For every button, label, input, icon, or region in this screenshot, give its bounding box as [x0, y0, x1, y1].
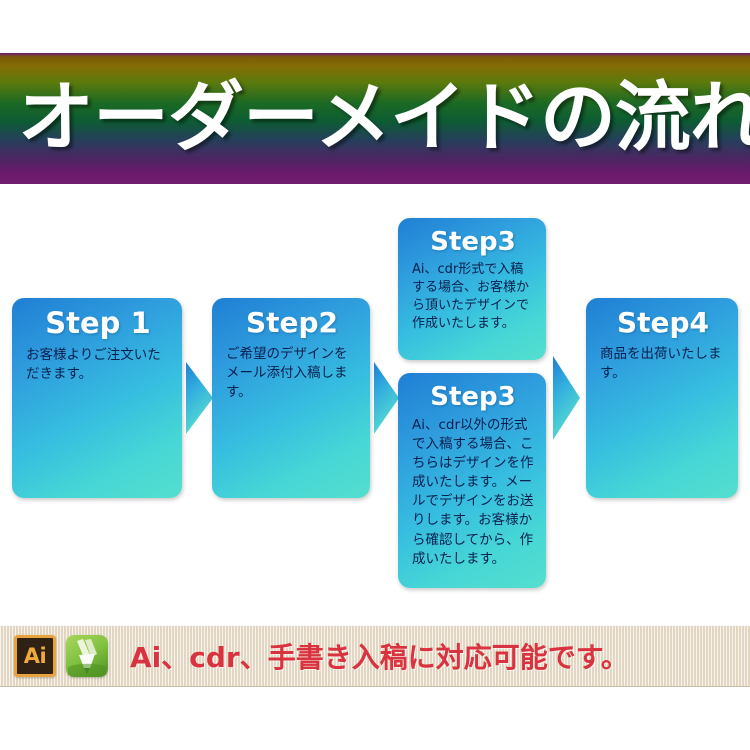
footer-banner: Ai Ai、cdr、手書き入稿に対応可能です。	[0, 625, 750, 687]
adobe-illustrator-icon: Ai	[14, 635, 56, 677]
step-title: Step3	[412, 228, 534, 257]
step-title: Step2	[226, 308, 358, 339]
step-body: Ai、cdr形式で入稿する場合、お客様から頂いたデザインで作成いたします。	[412, 261, 534, 334]
page-title: オーダーメイドの流れ	[18, 79, 750, 155]
flow-diagram: Step 1 お客様よりご注文いただきます。 Step2 ご希望のデザインをメー…	[0, 184, 750, 625]
step-body: ご希望のデザインをメール添付入稿します。	[226, 345, 358, 402]
step-title: Step3	[412, 383, 534, 412]
step-box-step3-other: Step3 Ai、cdr以外の形式で入稿する場合、こちらはデザインを作成いたしま…	[398, 373, 546, 588]
step-box-step1: Step 1 お客様よりご注文いただきます。	[12, 298, 182, 498]
step-box-step2: Step2 ご希望のデザインをメール添付入稿します。	[212, 298, 370, 498]
step-title: Step 1	[26, 308, 170, 340]
step-box-step3-ai-cdr: Step3 Ai、cdr形式で入稿する場合、お客様から頂いたデザインで作成いたし…	[398, 218, 546, 360]
flow-infographic: オーダーメイドの流れ Step 1 お客様よりご注文いただきます。	[0, 0, 750, 750]
step-body: 商品を出荷いたします。	[600, 345, 726, 383]
step-title: Step4	[600, 308, 726, 339]
step-body: お客様よりご注文いただきます。	[26, 346, 170, 384]
coreldraw-icon	[66, 635, 108, 677]
header-band: オーダーメイドの流れ	[0, 53, 750, 184]
banner-text: Ai、cdr、手書き入稿に対応可能です。	[130, 636, 629, 676]
step-box-step4: Step4 商品を出荷いたします。	[586, 298, 738, 498]
step-body: Ai、cdr以外の形式で入稿する場合、こちらはデザインを作成いたします。メールで…	[412, 416, 534, 569]
